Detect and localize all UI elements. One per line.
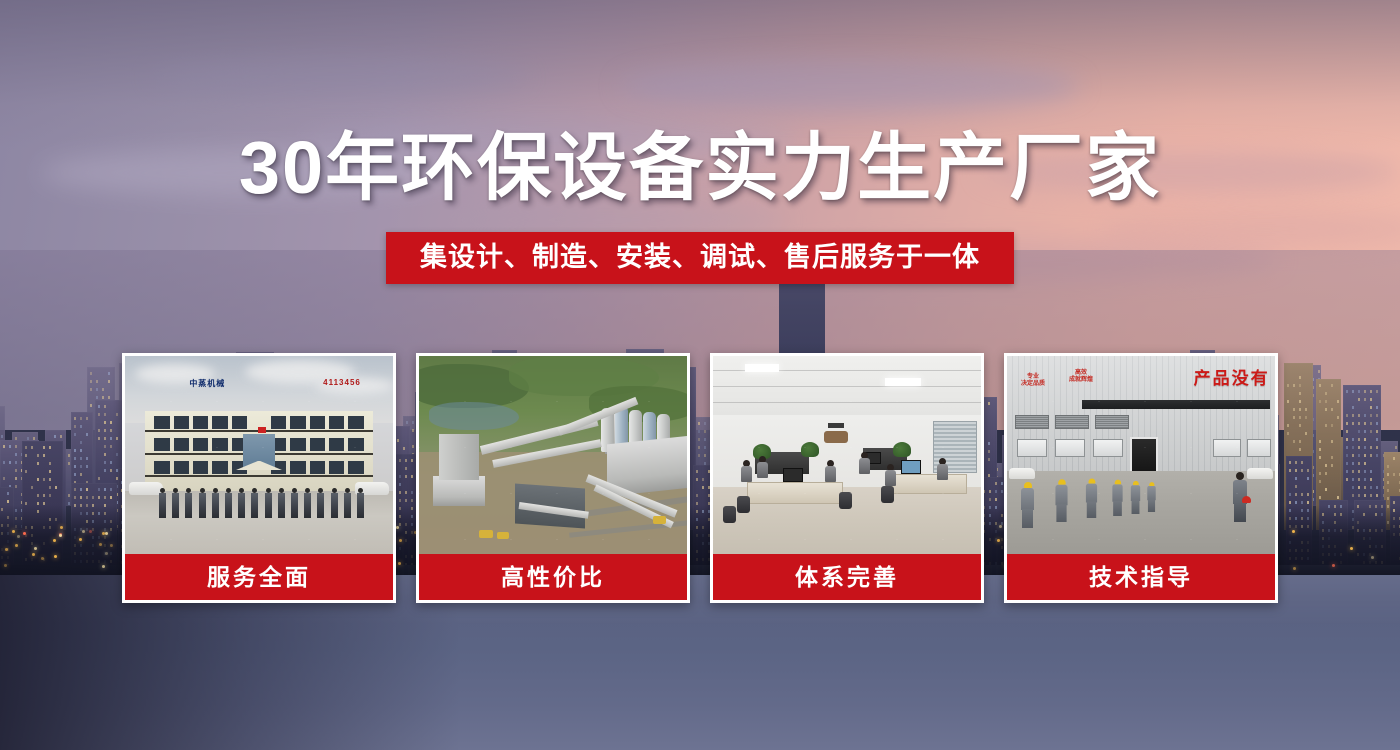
- building-window: [1299, 392, 1301, 395]
- building-window: [104, 421, 106, 424]
- building-window: [25, 454, 27, 457]
- building-window: [1352, 486, 1354, 489]
- building-window: [1319, 440, 1321, 443]
- building-window: [1387, 481, 1389, 484]
- building-window: [74, 488, 76, 491]
- building-window: [37, 462, 39, 465]
- building-window: [108, 380, 110, 383]
- building-window: [55, 486, 57, 489]
- building-window: [1364, 470, 1366, 473]
- building-window: [1358, 462, 1360, 465]
- building-window: [1358, 494, 1360, 497]
- building-window: [98, 496, 100, 499]
- building-window: [1352, 462, 1354, 465]
- building-window: [1358, 398, 1360, 401]
- building-window: [1346, 422, 1348, 425]
- building-window: [104, 437, 106, 440]
- building-window: [1370, 430, 1372, 433]
- building-window: [1346, 414, 1348, 417]
- building-window: [104, 469, 106, 472]
- building-window: [1370, 478, 1372, 481]
- building-window: [3, 461, 5, 464]
- building-window: [1352, 438, 1354, 441]
- building-window: [110, 421, 112, 424]
- building-window: [1325, 488, 1327, 491]
- building-window: [1331, 456, 1333, 459]
- building-window: [1358, 446, 1360, 449]
- building-window: [1376, 430, 1378, 433]
- building-window: [98, 429, 100, 432]
- building-window: [1319, 448, 1321, 451]
- building-window: [54, 435, 56, 438]
- building-window: [1370, 398, 1372, 401]
- building-window: [80, 496, 82, 499]
- building-window: [104, 413, 106, 416]
- building-window: [96, 380, 98, 383]
- building-window: [74, 465, 76, 468]
- building-window: [110, 469, 112, 472]
- building-window: [49, 446, 51, 449]
- building-window: [86, 433, 88, 436]
- building-window: [74, 449, 76, 452]
- building-window: [1287, 384, 1289, 387]
- building-window: [1358, 422, 1360, 425]
- building-window: [92, 496, 94, 499]
- building-window: [1352, 414, 1354, 417]
- building-window: [116, 437, 118, 440]
- building-window: [102, 396, 104, 399]
- building-window: [80, 425, 82, 428]
- building-window: [1358, 470, 1360, 473]
- building-window: [80, 488, 82, 491]
- building-window: [116, 413, 118, 416]
- building-window: [1346, 454, 1348, 457]
- building-window: [1370, 454, 1372, 457]
- building-window: [102, 388, 104, 391]
- building-window: [1387, 465, 1389, 468]
- building-window: [60, 435, 62, 438]
- building-window: [1319, 480, 1321, 483]
- building-window: [37, 454, 39, 457]
- building-window: [1370, 446, 1372, 449]
- building-window: [110, 488, 112, 491]
- building-window: [1387, 473, 1389, 476]
- building-window: [1358, 486, 1360, 489]
- building-window: [96, 396, 98, 399]
- building-window: [116, 453, 118, 456]
- building-window: [37, 494, 39, 497]
- building-window: [1305, 416, 1307, 419]
- building-window: [1370, 422, 1372, 425]
- building-window: [7, 492, 9, 495]
- building-window: [98, 437, 100, 440]
- building-window: [110, 429, 112, 432]
- building-window: [1376, 406, 1378, 409]
- building-window: [1364, 430, 1366, 433]
- building-window: [1376, 486, 1378, 489]
- building-window: [86, 465, 88, 468]
- building-window: [9, 445, 11, 448]
- building-window: [1346, 478, 1348, 481]
- building-window: [1364, 414, 1366, 417]
- building-window: [1299, 448, 1301, 451]
- building-window: [1376, 446, 1378, 449]
- building-window: [1293, 440, 1295, 443]
- building-window: [1299, 384, 1301, 387]
- building-window: [1364, 454, 1366, 457]
- building-window: [1, 435, 3, 438]
- building-window: [1376, 494, 1378, 497]
- building-window: [1319, 384, 1321, 387]
- building-window: [1346, 390, 1348, 393]
- building-window: [1337, 400, 1339, 403]
- building-window: [3, 477, 5, 480]
- building-window: [1370, 494, 1372, 497]
- building-window: [1331, 464, 1333, 467]
- building-window: [1293, 416, 1295, 419]
- building-window: [1358, 414, 1360, 417]
- building-window: [80, 473, 82, 476]
- building-window: [31, 446, 33, 449]
- building-window: [1376, 390, 1378, 393]
- building-window: [104, 461, 106, 464]
- building-window: [74, 473, 76, 476]
- building-window: [1299, 424, 1301, 427]
- building-window: [80, 465, 82, 468]
- building-window: [1325, 472, 1327, 475]
- building-window: [1352, 454, 1354, 457]
- building-window: [1370, 486, 1372, 489]
- building-window: [15, 469, 17, 472]
- building-window: [104, 488, 106, 491]
- building-window: [90, 388, 92, 391]
- building-window: [1364, 494, 1366, 497]
- building-window: [1319, 496, 1321, 499]
- building-window: [1364, 486, 1366, 489]
- building-window: [110, 461, 112, 464]
- building-window: [104, 405, 106, 408]
- building-window: [3, 445, 5, 448]
- building-window: [1346, 446, 1348, 449]
- building-window: [1358, 430, 1360, 433]
- building-window: [108, 372, 110, 375]
- building-window: [1358, 454, 1360, 457]
- building-window: [86, 496, 88, 499]
- building-window: [1305, 408, 1307, 411]
- building-window: [1299, 376, 1301, 379]
- building-window: [104, 453, 106, 456]
- building-window: [1287, 424, 1289, 427]
- building-window: [1387, 489, 1389, 492]
- building-window: [90, 372, 92, 375]
- building-window: [15, 453, 17, 456]
- building-window: [37, 478, 39, 481]
- building-window: [1352, 422, 1354, 425]
- building-window: [1376, 454, 1378, 457]
- building-window: [1352, 390, 1354, 393]
- building-window: [1319, 472, 1321, 475]
- building-window: [1364, 462, 1366, 465]
- building-window: [86, 417, 88, 420]
- building-window: [1364, 438, 1366, 441]
- building-window: [1337, 496, 1339, 499]
- building-window: [86, 457, 88, 460]
- building-window: [80, 441, 82, 444]
- building-window: [90, 404, 92, 407]
- building-window: [49, 462, 51, 465]
- building-window: [1352, 406, 1354, 409]
- building-window: [1352, 446, 1354, 449]
- building-window: [68, 462, 70, 465]
- building-window: [1376, 438, 1378, 441]
- building-window: [74, 425, 76, 428]
- building-window: [80, 417, 82, 420]
- building-window: [1352, 470, 1354, 473]
- building-window: [1319, 400, 1321, 403]
- building-window: [98, 477, 100, 480]
- building-window: [25, 446, 27, 449]
- building-window: [25, 470, 27, 473]
- building-window: [98, 413, 100, 416]
- building-window: [43, 494, 45, 497]
- building-window: [1299, 408, 1301, 411]
- building-window: [1370, 406, 1372, 409]
- building-window: [7, 500, 9, 503]
- building-window: [1376, 422, 1378, 425]
- building-window: [1319, 456, 1321, 459]
- cloud: [150, 60, 530, 94]
- building-window: [80, 449, 82, 452]
- building-window: [15, 445, 17, 448]
- building-window: [1364, 478, 1366, 481]
- building-window: [1346, 430, 1348, 433]
- building-window: [80, 457, 82, 460]
- building-window: [43, 478, 45, 481]
- building-window: [110, 496, 112, 499]
- building-window: [1331, 424, 1333, 427]
- building-window: [1287, 432, 1289, 435]
- building-window: [1352, 478, 1354, 481]
- building-window: [1393, 457, 1395, 460]
- building-window: [1305, 432, 1307, 435]
- cloud: [620, 60, 1080, 112]
- building-window: [104, 445, 106, 448]
- building-window: [1331, 408, 1333, 411]
- building-window: [1370, 390, 1372, 393]
- building-window: [31, 486, 33, 489]
- building-window: [1387, 497, 1389, 500]
- building-window: [86, 488, 88, 491]
- building-window: [110, 437, 112, 440]
- building-window: [49, 470, 51, 473]
- building-window: [1293, 408, 1295, 411]
- building-window: [98, 488, 100, 491]
- building-window: [49, 478, 51, 481]
- building-window: [108, 396, 110, 399]
- building-window: [1352, 494, 1354, 497]
- building-window: [1358, 438, 1360, 441]
- building-window: [1325, 464, 1327, 467]
- building-window: [1346, 470, 1348, 473]
- building-window: [1393, 473, 1395, 476]
- building-window: [68, 494, 70, 497]
- building-window: [1358, 478, 1360, 481]
- building-window: [74, 457, 76, 460]
- building-window: [1318, 370, 1320, 373]
- building-window: [15, 485, 17, 488]
- building-window: [1346, 438, 1348, 441]
- building-window: [15, 461, 17, 464]
- cloud: [430, 205, 790, 235]
- building-window: [43, 454, 45, 457]
- building-window: [1299, 440, 1301, 443]
- building-window: [1364, 446, 1366, 449]
- building-window: [74, 496, 76, 499]
- building-window: [1299, 416, 1301, 419]
- building-window: [104, 429, 106, 432]
- building-window: [43, 446, 45, 449]
- building-window: [1364, 398, 1366, 401]
- building-window: [1370, 470, 1372, 473]
- building-window: [49, 494, 51, 497]
- building-window: [1331, 384, 1333, 387]
- building-window: [68, 454, 70, 457]
- banner-stage: 30年环保设备实力生产厂家 集设计、制造、安装、调试、售后服务于一体: [0, 0, 1400, 750]
- building-window: [1346, 462, 1348, 465]
- building-window: [1325, 424, 1327, 427]
- building-window: [1293, 384, 1295, 387]
- building-window: [9, 461, 11, 464]
- building-window: [1287, 400, 1289, 403]
- building-window: [104, 496, 106, 499]
- building-window: [49, 486, 51, 489]
- building-window: [1337, 416, 1339, 419]
- building-window: [96, 388, 98, 391]
- building-window: [74, 417, 76, 420]
- building-window: [1299, 400, 1301, 403]
- building-window: [15, 477, 17, 480]
- building-window: [1331, 440, 1333, 443]
- building-window: [1364, 390, 1366, 393]
- building-window: [98, 405, 100, 408]
- building-window: [1358, 390, 1360, 393]
- building-window: [90, 380, 92, 383]
- building-window: [1325, 408, 1327, 411]
- building-window: [74, 433, 76, 436]
- building-window: [110, 445, 112, 448]
- building-window: [1325, 400, 1327, 403]
- building-window: [1370, 414, 1372, 417]
- building-window: [1376, 414, 1378, 417]
- building-window: [1325, 392, 1327, 395]
- building-window: [1364, 422, 1366, 425]
- building-window: [1395, 446, 1397, 449]
